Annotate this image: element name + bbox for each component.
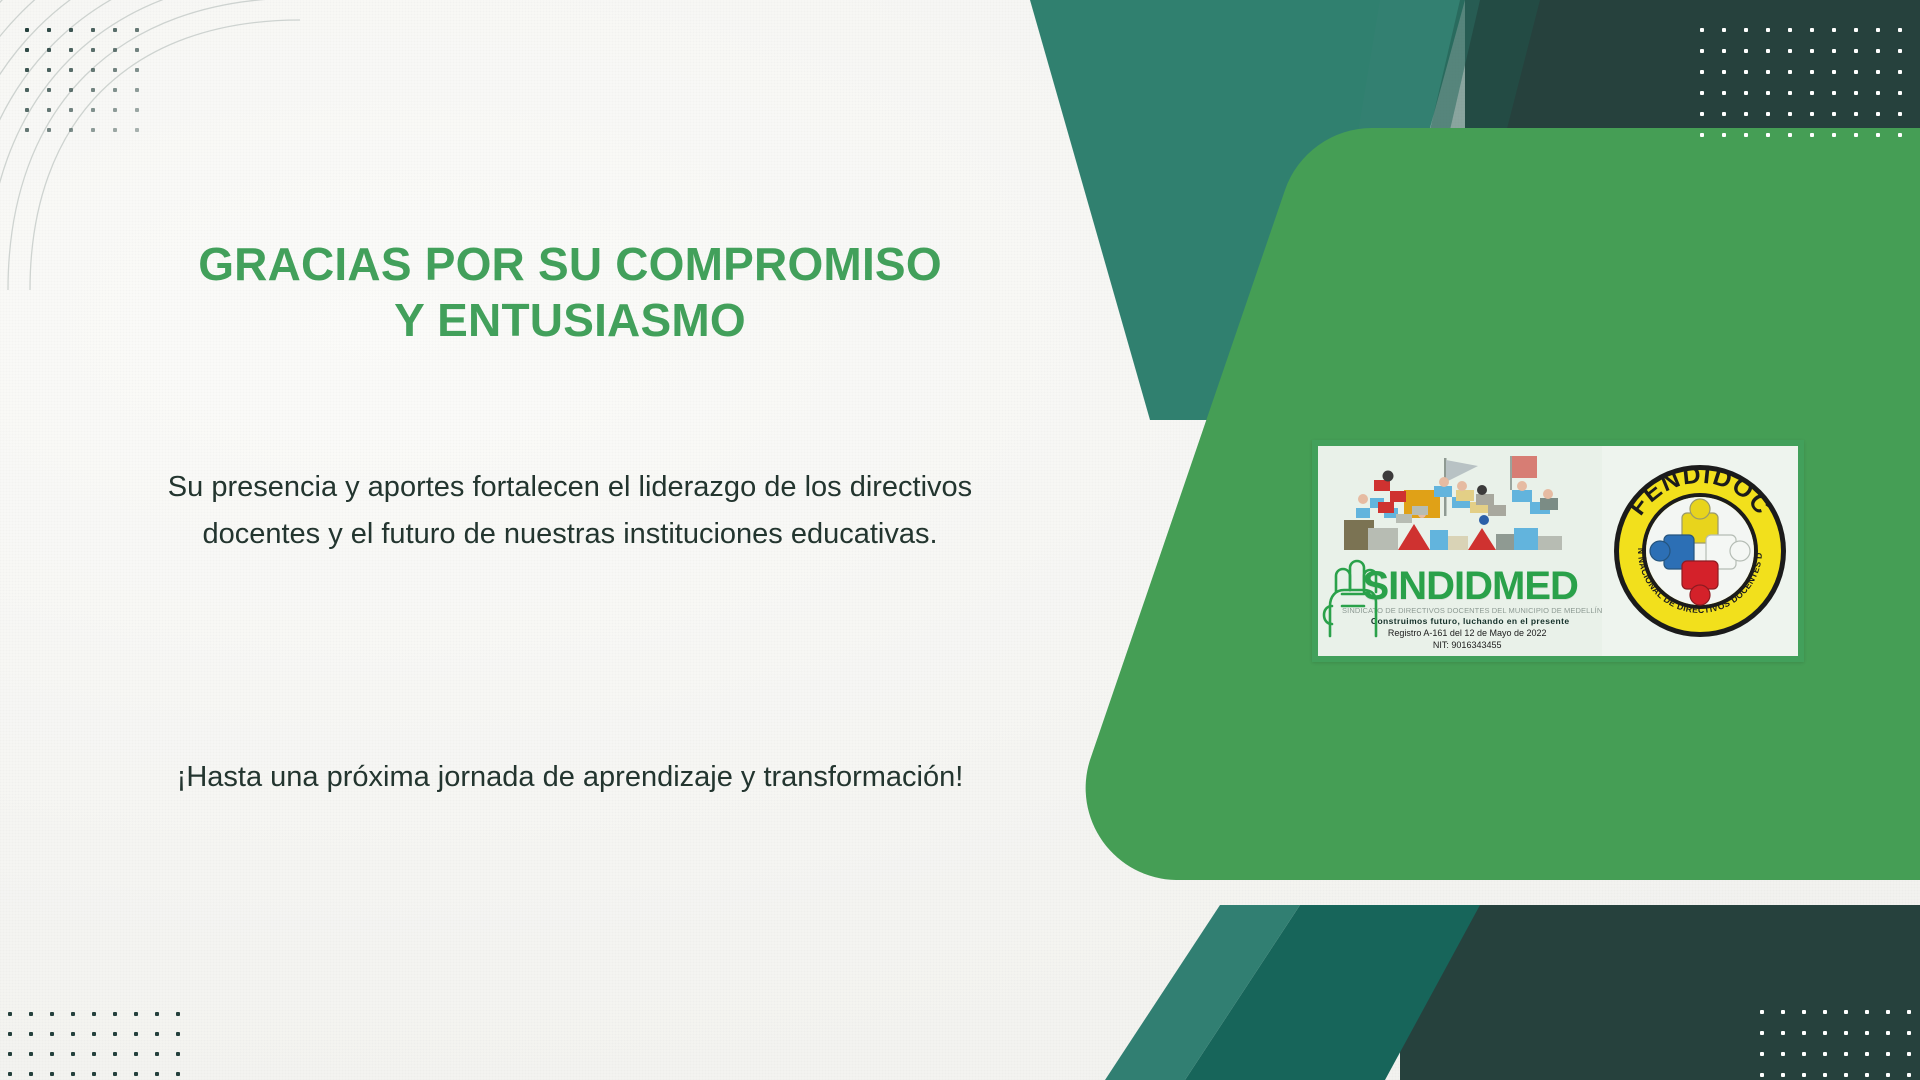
logo-card: SINDIDMED SINDICATO DE DIRECTIVOS DOCENT… xyxy=(1312,440,1804,662)
slide-canvas: GRACIAS POR SU COMPROMISO Y ENTUSIASMO S… xyxy=(0,0,1920,1080)
fendidoc-logo: FENDIDOC FEDERACIÓN NACIONAL DE DIRECTIV… xyxy=(1602,446,1798,656)
title-line-2: Y ENTUSIASMO xyxy=(394,294,746,346)
text-column: GRACIAS POR SU COMPROMISO Y ENTUSIASMO S… xyxy=(150,0,990,1080)
page-title: GRACIAS POR SU COMPROMISO Y ENTUSIASMO xyxy=(150,236,990,348)
body-paragraph-1: Su presencia y aportes fortalecen el lid… xyxy=(150,464,990,558)
raised-fist-icon xyxy=(1320,548,1382,640)
fendidoc-seal: FENDIDOC FEDERACIÓN NACIONAL DE DIRECTIV… xyxy=(1610,461,1790,641)
title-line-1: GRACIAS POR SU COMPROMISO xyxy=(198,238,942,290)
sindidmed-logo: SINDIDMED SINDICATO DE DIRECTIVOS DOCENT… xyxy=(1318,446,1602,656)
dark-panel-bottom xyxy=(1400,905,1920,1080)
body-paragraph-2: ¡Hasta una próxima jornada de aprendizaj… xyxy=(150,754,990,801)
sindidmed-nit: NIT: 9016343455 xyxy=(1332,640,1602,650)
